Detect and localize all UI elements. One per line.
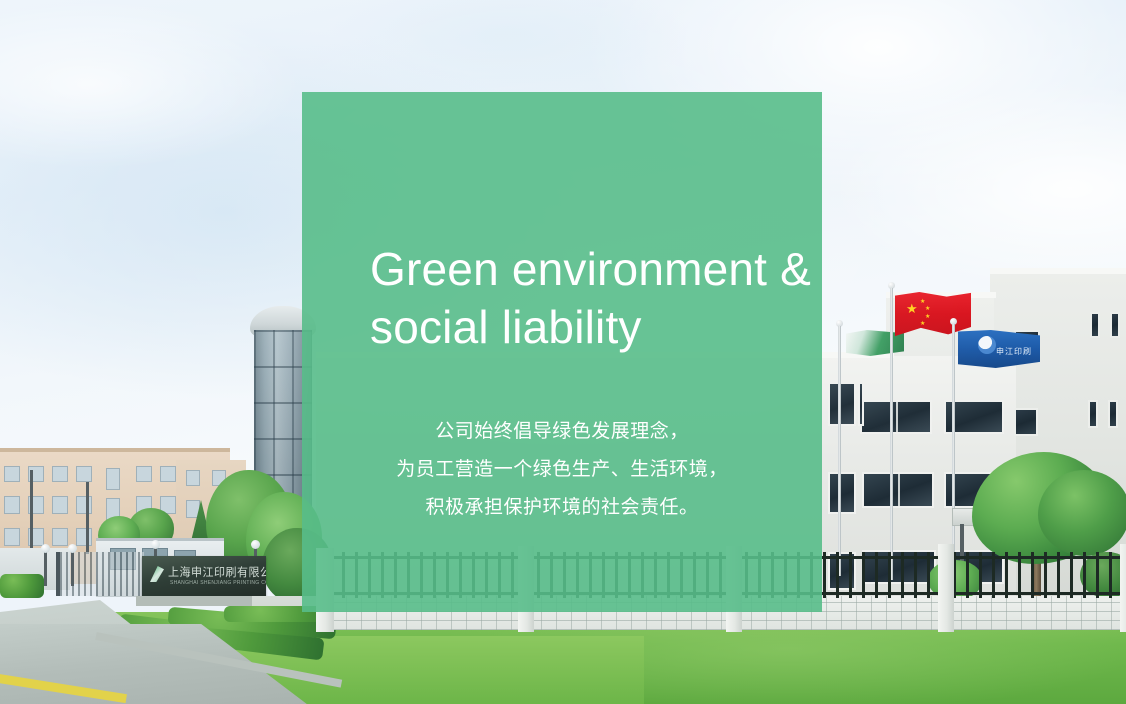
company-flag-text: 申江印刷	[996, 346, 1032, 357]
window	[76, 496, 92, 514]
lamp-globe	[41, 544, 50, 553]
window	[76, 528, 92, 546]
lamp-post	[71, 552, 74, 586]
window	[4, 496, 20, 514]
window	[160, 466, 176, 482]
utility-pole	[86, 482, 89, 554]
panel-description-line-3: 积极承担保护环境的社会责任。	[326, 488, 798, 526]
window	[136, 466, 152, 482]
window	[52, 496, 68, 514]
gate-rail	[56, 552, 144, 596]
flag-star-small: ★	[925, 306, 930, 312]
green-overlay-panel: Green environment & social liability 公司始…	[302, 92, 822, 612]
window-mullion	[898, 474, 900, 506]
lamp-globe	[68, 544, 77, 553]
hero-banner: ★ ★ ★ ★ ★ 申江印刷	[0, 0, 1126, 704]
company-sign: 上海申江印刷有限公司 SHANGHAI SHENJIANG PRINTING C…	[142, 556, 266, 598]
window	[52, 528, 68, 546]
fence-pillar	[1120, 544, 1126, 632]
company-logo-icon	[150, 566, 164, 582]
lamp-globe	[251, 540, 260, 549]
window	[4, 466, 20, 482]
window	[1014, 408, 1038, 436]
flag-star-small: ★	[920, 299, 925, 305]
hedge	[0, 574, 44, 598]
window	[4, 528, 20, 546]
utility-pole	[30, 470, 33, 556]
window	[186, 470, 200, 486]
window	[1108, 400, 1118, 428]
window-mullion	[896, 402, 898, 432]
company-sign-name-cn: 上海申江印刷有限公司	[168, 564, 266, 581]
fence-pillar	[938, 544, 954, 632]
company-logo-icon	[978, 336, 996, 354]
flag-star-small: ★	[920, 321, 925, 327]
window	[1090, 312, 1100, 338]
window	[76, 466, 92, 482]
flagpole	[890, 288, 893, 580]
panel-description-line-1: 公司始终倡导绿色发展理念，	[326, 412, 798, 450]
tree-crown	[1038, 470, 1126, 556]
page-title-line-1: Green environment &	[370, 240, 814, 298]
window	[106, 468, 120, 490]
page-title-line-2: social liability	[370, 298, 814, 356]
lamp-globe	[151, 540, 160, 549]
flag-star-large: ★	[906, 302, 918, 315]
window	[52, 466, 68, 482]
window	[828, 382, 856, 426]
flag-star-small: ★	[925, 314, 930, 320]
page-title: Green environment & social liability	[302, 240, 822, 356]
window	[858, 382, 864, 426]
company-sign-name-en: SHANGHAI SHENJIANG PRINTING CO.,LTD	[170, 580, 266, 586]
window	[828, 472, 856, 514]
lamp-post	[44, 552, 47, 586]
window	[1110, 312, 1120, 338]
flagpole	[838, 326, 841, 576]
window	[1088, 400, 1098, 428]
panel-description-line-2: 为员工营造一个绿色生产、生活环境，	[326, 450, 798, 488]
panel-description: 公司始终倡导绿色发展理念， 为员工营造一个绿色生产、生活环境， 积极承担保护环境…	[302, 412, 822, 526]
parapet	[990, 268, 1126, 274]
